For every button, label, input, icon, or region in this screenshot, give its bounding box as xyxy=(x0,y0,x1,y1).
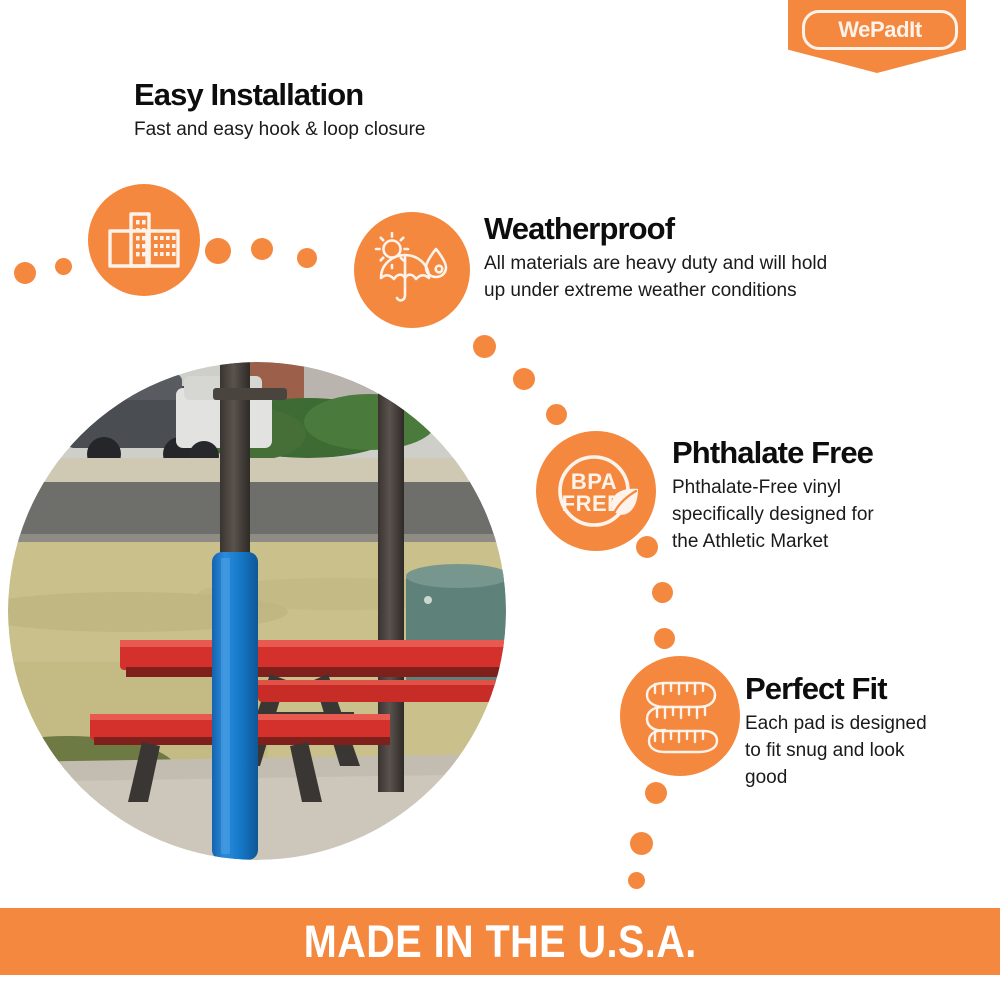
perfect-fit-body-line-1: Each pad is designed xyxy=(745,713,927,734)
logo-text: WePadIt xyxy=(838,19,922,41)
phthalate-free-body-line-1: Phthalate-Free vinyl xyxy=(672,477,841,498)
perfect-fit-body-line-2: to fit snug and look xyxy=(745,740,905,761)
connector-dot xyxy=(473,335,496,358)
perfect-fit-heading: Perfect Fit xyxy=(745,672,985,706)
weatherproof-heading: Weatherproof xyxy=(484,212,914,246)
brand-logo: WePadIt xyxy=(788,0,966,73)
perfect-fit-body: Each pad is designed to fit snug and loo… xyxy=(745,711,985,792)
made-in-usa-banner: MADE IN THE U.S.A. xyxy=(0,908,1000,975)
easy-installation-text-block: Easy Installation Fast and easy hook & l… xyxy=(134,78,554,144)
connector-dot xyxy=(645,782,667,804)
product-photo xyxy=(8,362,506,860)
connector-dot xyxy=(55,258,72,275)
connector-dot xyxy=(546,404,567,425)
connector-dot xyxy=(628,872,645,889)
building-installation-icon xyxy=(107,209,181,271)
connector-dot xyxy=(630,832,653,855)
phthalate-free-body: Phthalate-Free vinyl specifically design… xyxy=(672,475,972,556)
perfect-fit-icon-badge xyxy=(620,656,740,776)
connector-dot xyxy=(251,238,273,260)
easy-installation-heading: Easy Installation xyxy=(134,78,554,112)
weatherproof-body: All materials are heavy duty and will ho… xyxy=(484,251,914,305)
perfect-fit-body-line-3: good xyxy=(745,767,787,788)
phthalate-free-body-line-2: specifically designed for xyxy=(672,504,874,525)
measuring-tape-icon xyxy=(637,673,723,759)
connector-dot xyxy=(205,238,231,264)
connector-dot xyxy=(654,628,675,649)
infographic-page: WePadIt xyxy=(0,0,1000,987)
perfect-fit-text-block: Perfect Fit Each pad is designed to fit … xyxy=(745,672,985,792)
bpa-free-leaf-icon: BPA FREE xyxy=(546,441,646,541)
sun-umbrella-raindrop-icon xyxy=(372,232,452,308)
connector-dot xyxy=(14,262,36,284)
logo-outline-box: WePadIt xyxy=(802,10,958,50)
weatherproof-body-line-2: up under extreme weather conditions xyxy=(484,280,797,301)
logo-text-pad: Pad xyxy=(870,17,909,42)
phthalate-free-body-line-3: the Athletic Market xyxy=(672,531,828,552)
logo-text-we: We xyxy=(838,17,870,42)
phthalate-free-icon-badge: BPA FREE xyxy=(536,431,656,551)
phthalate-free-heading: Phthalate Free xyxy=(672,436,972,470)
connector-dot xyxy=(652,582,673,603)
made-in-usa-text: MADE IN THE U.S.A. xyxy=(304,916,697,968)
connector-dot xyxy=(297,248,317,268)
logo-text-it: It xyxy=(909,17,922,42)
weatherproof-icon-badge xyxy=(354,212,470,328)
phthalate-free-text-block: Phthalate Free Phthalate-Free vinyl spec… xyxy=(672,436,972,556)
weatherproof-text-block: Weatherproof All materials are heavy dut… xyxy=(484,212,914,305)
easy-installation-icon-badge xyxy=(88,184,200,296)
connector-dot xyxy=(513,368,535,390)
weatherproof-body-line-1: All materials are heavy duty and will ho… xyxy=(484,253,827,274)
easy-installation-body: Fast and easy hook & loop closure xyxy=(134,117,554,144)
